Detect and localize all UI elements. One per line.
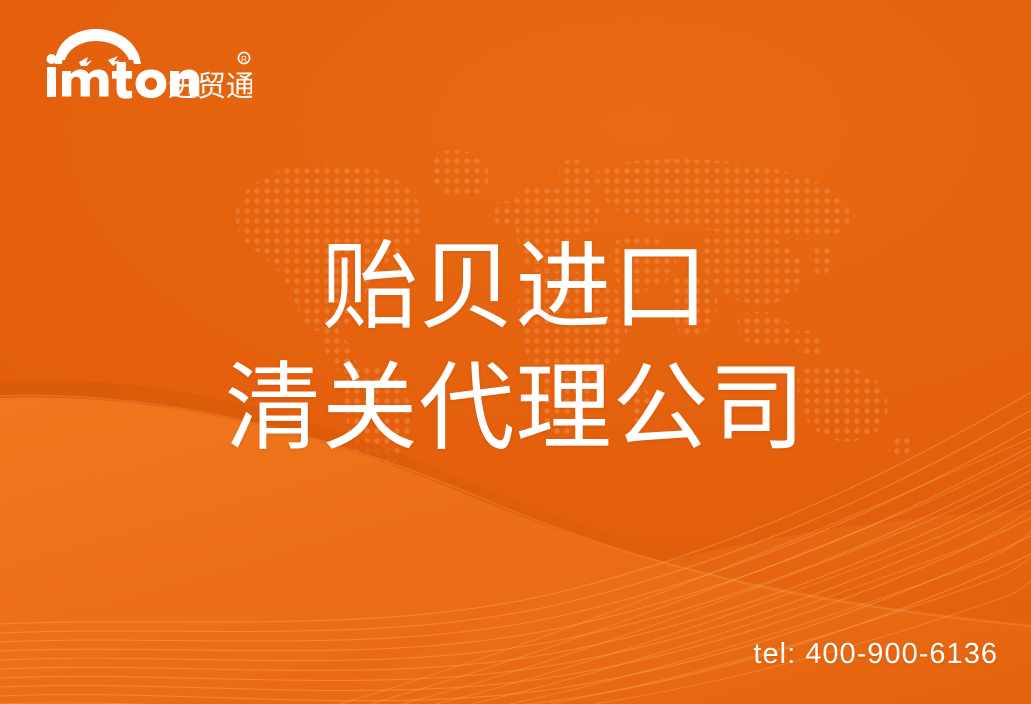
registered-trademark-icon: R [238,52,249,64]
headline: 贻贝进口 清关代理公司 [0,228,1031,470]
headline-line-1: 贻贝进口 [0,228,1031,349]
headline-line-2: 清关代理公司 [0,349,1031,470]
logo-chinese-name: 进贸通 [168,69,252,103]
globe-arc-icon [55,29,141,66]
imton-logo[interactable]: 进贸通 R [34,26,252,104]
svg-text:R: R [241,55,247,64]
promotional-banner: 进贸通 R 贻贝进口 清关代理公司 tel: 400-900-6136 [0,0,1031,704]
telephone-number: tel: 400-900-6136 [753,638,998,671]
